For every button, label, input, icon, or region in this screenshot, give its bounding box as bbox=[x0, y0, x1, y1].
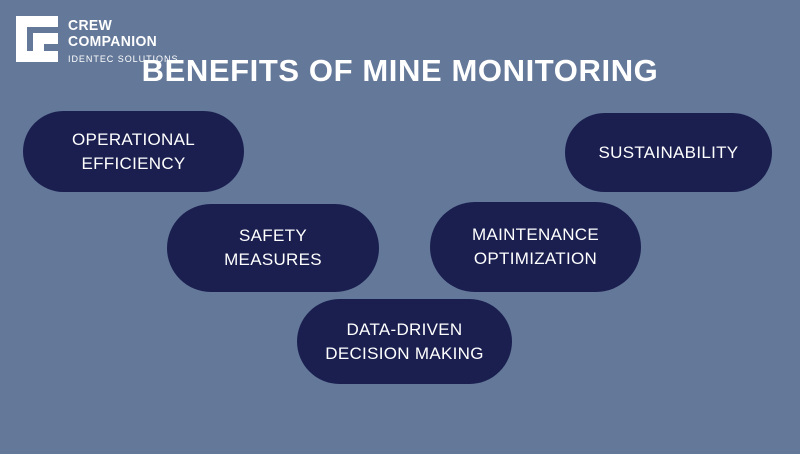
benefit-pill-operational-efficiency: OPERATIONAL EFFICIENCY bbox=[23, 111, 244, 192]
benefit-pill-safety-measures: SAFETY MEASURES bbox=[167, 204, 379, 292]
benefit-pill-maintenance-optimization: MAINTENANCE OPTIMIZATION bbox=[430, 202, 641, 292]
benefit-label: SAFETY MEASURES bbox=[224, 224, 322, 272]
benefit-label: SUSTAINABILITY bbox=[599, 141, 739, 165]
infographic-slide: CREW COMPANION IDENTEC SOLUTIONS BENEFIT… bbox=[0, 0, 800, 454]
benefit-label: MAINTENANCE OPTIMIZATION bbox=[472, 223, 599, 271]
brand-name-line1: CREW bbox=[68, 18, 176, 34]
brand-name-line2: COMPANION bbox=[68, 34, 176, 50]
page-title: BENEFITS OF MINE MONITORING bbox=[0, 53, 800, 89]
benefit-pill-data-driven-decision-making: DATA-DRIVEN DECISION MAKING bbox=[297, 299, 512, 384]
benefit-label: DATA-DRIVEN DECISION MAKING bbox=[325, 318, 483, 366]
benefit-pill-sustainability: SUSTAINABILITY bbox=[565, 113, 772, 192]
benefit-label: OPERATIONAL EFFICIENCY bbox=[72, 128, 195, 176]
